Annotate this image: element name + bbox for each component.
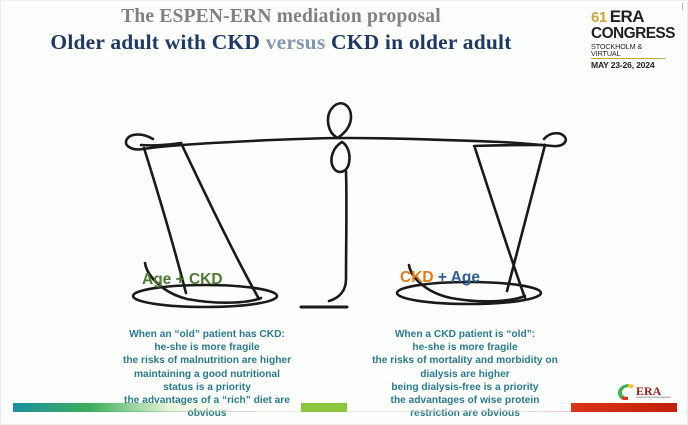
left-text-line: maintaining a good nutritional (93, 368, 321, 381)
era-logo-swoosh-yellow (628, 384, 634, 389)
bottom-bar-gradient-segment (91, 403, 236, 412)
era-footer-logo: ERA (614, 380, 674, 400)
scale-center-post (329, 171, 346, 301)
slide-title-block: The ESPEN-ERN mediation proposal Older a… (1, 5, 561, 55)
right-text-line: dialysis are higher (349, 368, 581, 381)
scale-post-loop (331, 142, 349, 172)
congress-venue: STOCKHOLM & VIRTUAL (591, 43, 665, 59)
congress-org-name: ERA (610, 8, 644, 25)
left-text-line: he-she is more fragile (93, 341, 321, 354)
right-text-line: he-she is more fragile (349, 341, 581, 354)
era-congress-logo: 61 ERA CONGRESS STOCKHOLM & VIRTUAL MAY … (591, 8, 675, 70)
bottom-bar-red-segment (571, 403, 677, 412)
subtitle-part-two: CKD in older adult (325, 30, 511, 54)
right-text-line: being dialysis-free is a priority (349, 381, 581, 394)
right-pan-label: CKD + Age (400, 269, 480, 287)
right-text-line: the risks of mortality and morbidity on (349, 354, 581, 367)
slide-canvas: The ESPEN-ERN mediation proposal Older a… (0, 0, 688, 425)
congress-dates: MAY 23-26, 2024 (591, 61, 675, 70)
left-text-line: the risks of malnutrition are higher (93, 354, 321, 367)
subtitle-versus: versus (266, 30, 326, 54)
congress-event-name: CONGRESS (591, 26, 675, 42)
left-pan-label: Age + CKD (142, 271, 223, 289)
scale-left-cord-top (141, 143, 181, 145)
page-title: The ESPEN-ERN mediation proposal (1, 5, 561, 28)
era-logo-tagline-bar (636, 397, 671, 399)
congress-logo-top-row: 61 ERA (591, 8, 675, 25)
right-pan-label-age: + Age (434, 269, 480, 286)
scale-top-loop (328, 103, 351, 138)
scale-right-cord-top (474, 145, 545, 146)
congress-edition-number: 61 (591, 10, 607, 25)
scale-right-cord-inner (475, 148, 525, 298)
subtitle-part-one: Older adult with CKD (50, 30, 265, 54)
left-text-line: When an “old” patient has CKD: (93, 328, 321, 341)
right-pan-label-ckd: CKD (400, 269, 434, 286)
page-subtitle: Older adult with CKD versus CKD in older… (1, 29, 561, 55)
era-logo-wordmark: ERA (636, 384, 662, 398)
corner-tick-mark (682, 3, 683, 10)
bottom-color-bar (1, 403, 688, 412)
bottom-bar-green-segment (301, 403, 347, 412)
scale-right-cord-outer (507, 145, 545, 291)
bottom-bar-teal-segment (13, 403, 91, 412)
left-text-line: status is a priority (93, 381, 321, 394)
right-text-line: When a CKD patient is “old”: (349, 328, 581, 341)
